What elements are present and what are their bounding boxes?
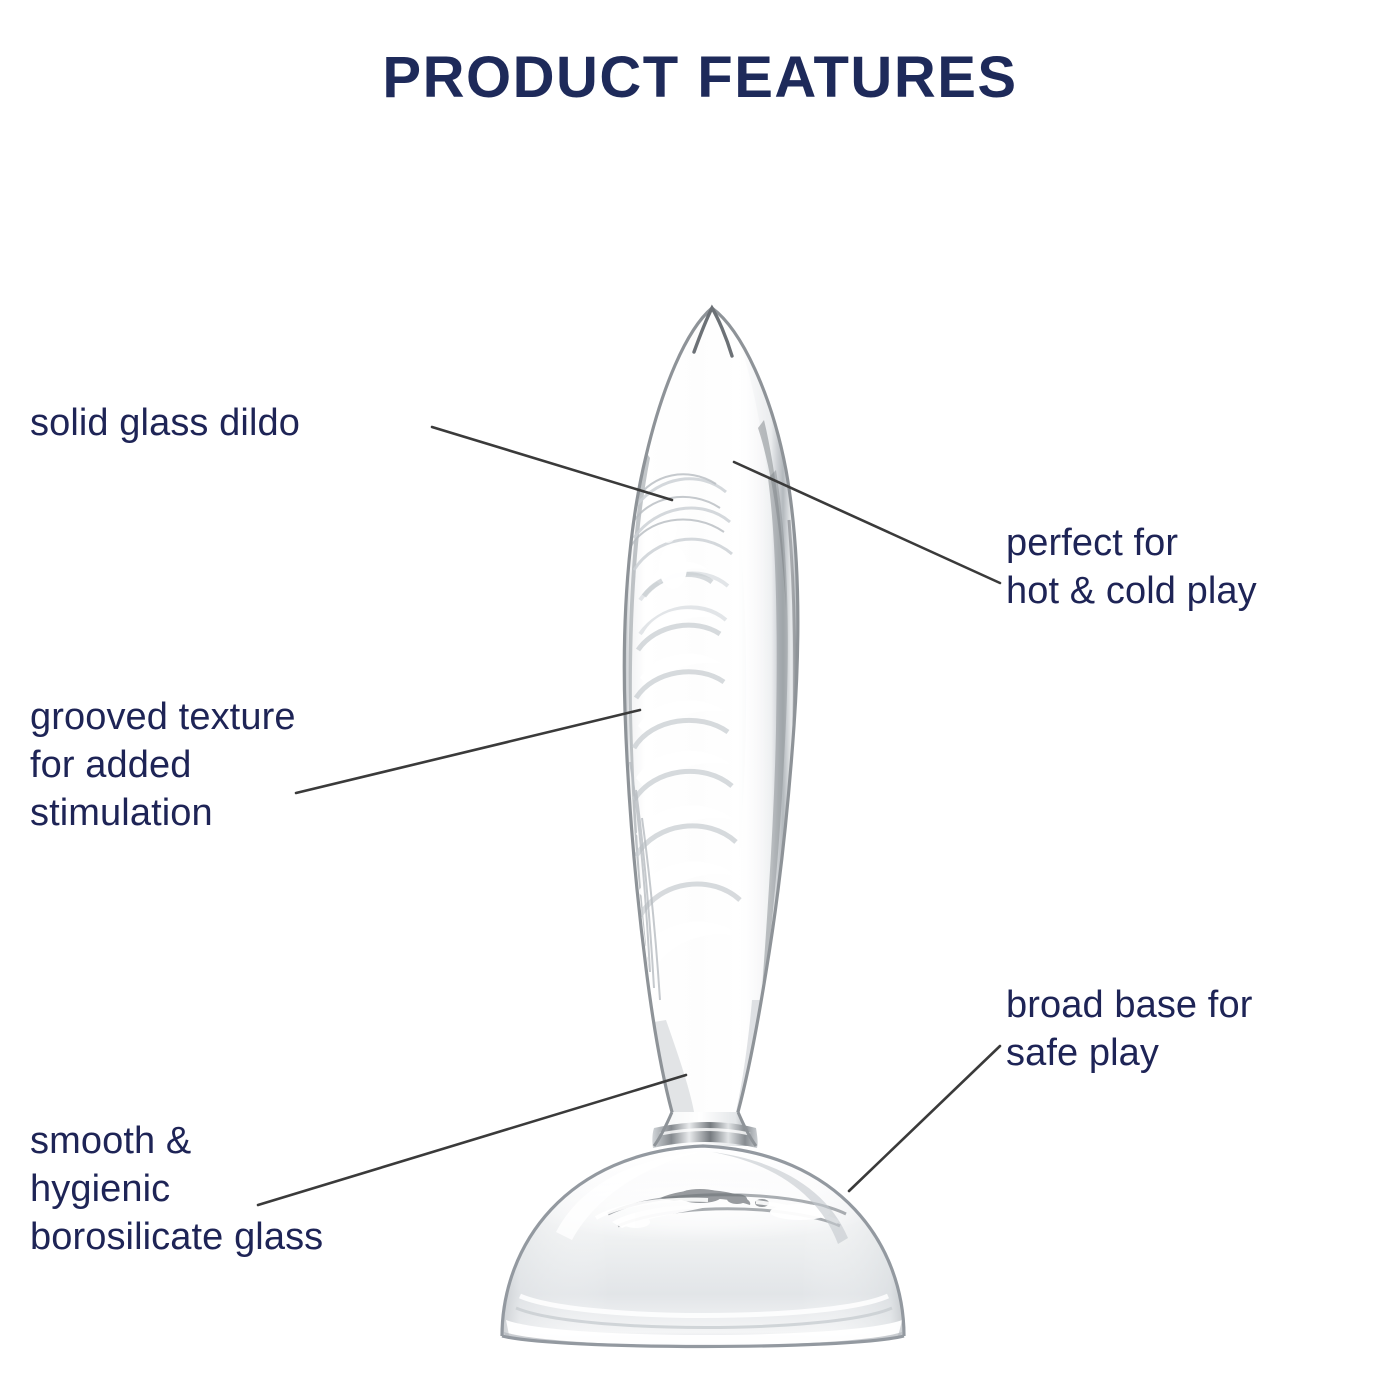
callout-line: hot & cold play xyxy=(1006,568,1257,616)
callout-line: borosilicate glass xyxy=(30,1214,323,1262)
callout-solid-glass-dildo: solid glass dildo xyxy=(30,400,300,448)
product-neck xyxy=(652,1112,757,1148)
callout-line: safe play xyxy=(1006,1030,1252,1078)
callout-line: perfect for xyxy=(1006,520,1257,568)
callout-broad-base-safe-play: broad base for safe play xyxy=(1006,982,1252,1078)
callout-line: stimulation xyxy=(30,790,296,838)
callout-line: for added xyxy=(30,742,296,790)
callout-grooved-texture: grooved texture for added stimulation xyxy=(30,694,296,838)
callout-hot-and-cold-play: perfect for hot & cold play xyxy=(1006,520,1257,616)
callout-line: solid glass dildo xyxy=(30,400,300,448)
product-dome-base xyxy=(490,1140,916,1356)
product-shaft xyxy=(624,308,798,1112)
callout-line: grooved texture xyxy=(30,694,296,742)
callout-line: hygienic xyxy=(30,1166,323,1214)
callout-smooth-hygienic-borosilicate-glass: smooth & hygienic borosilicate glass xyxy=(30,1118,323,1262)
callout-line: broad base for xyxy=(1006,982,1252,1030)
callout-line: smooth & xyxy=(30,1118,323,1166)
product-features-infographic: PRODUCT FEATURES xyxy=(0,0,1400,1400)
